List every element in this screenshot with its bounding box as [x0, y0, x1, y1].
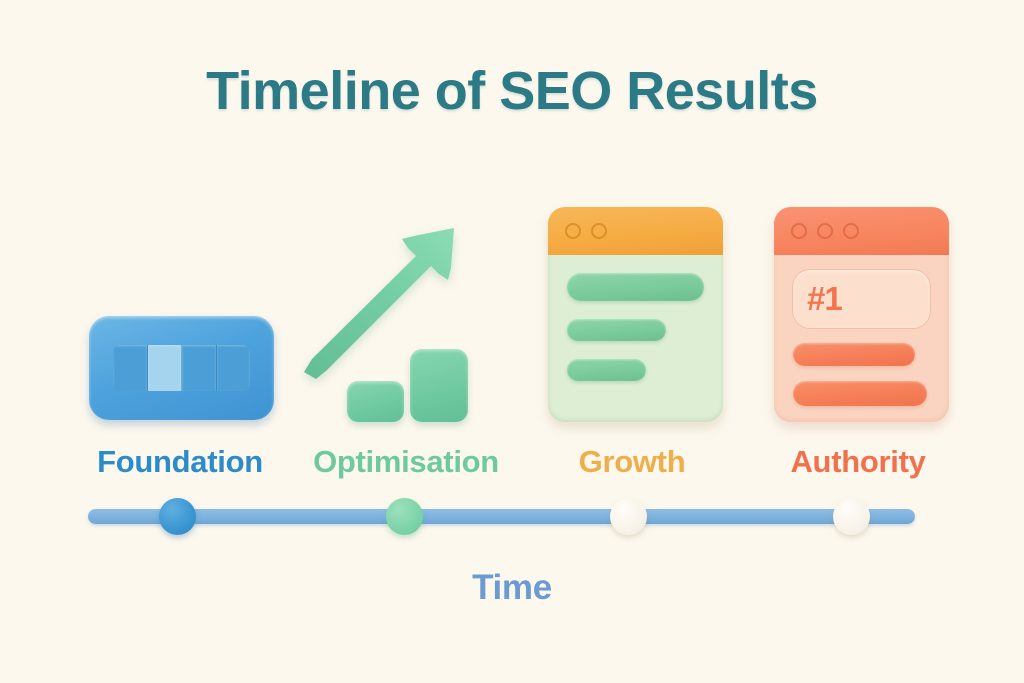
window-titlebar — [548, 207, 723, 255]
stage-label-authority: Authority — [746, 444, 970, 480]
stage-growth-icon-area — [520, 192, 744, 422]
chart-bar-small — [347, 381, 404, 422]
window-dot-icon — [591, 223, 607, 239]
window-dot-icon — [565, 223, 581, 239]
stage-label-optimisation: Optimisation — [294, 444, 518, 480]
window-body — [548, 255, 723, 422]
window-dot-icon — [817, 223, 833, 239]
timeline-axis — [0, 480, 1024, 560]
rank-badge: #1 — [792, 269, 931, 329]
content-line — [793, 381, 927, 406]
stage-authority[interactable]: #1 Authority — [746, 190, 970, 480]
timeline-track — [88, 509, 915, 524]
window-body: #1 — [774, 255, 949, 422]
stage-growth[interactable]: Growth — [520, 190, 744, 480]
timeline-marker-growth[interactable] — [610, 498, 647, 535]
stage-optimisation[interactable]: Optimisation — [294, 190, 518, 480]
rank-badge-text: #1 — [807, 280, 842, 318]
brick-segment — [217, 345, 251, 391]
browser-window-rank-icon: #1 — [774, 207, 949, 422]
stage-foundation-icon-area — [68, 192, 292, 422]
infographic-canvas: Timeline of SEO Results Foundation — [0, 0, 1024, 683]
stage-foundation[interactable]: Foundation — [68, 190, 292, 480]
foundation-bricks-icon — [89, 316, 274, 420]
window-dot-icon — [843, 223, 859, 239]
brick-panel — [113, 345, 250, 391]
axis-label-time: Time — [0, 568, 1024, 608]
stage-row: Foundation — [62, 190, 962, 480]
brick-segment — [113, 345, 148, 391]
content-line — [567, 319, 666, 341]
timeline-marker-optimisation[interactable] — [386, 498, 423, 535]
stage-optimisation-icon-area — [294, 192, 518, 422]
content-line — [567, 359, 646, 381]
page-title: Timeline of SEO Results — [0, 60, 1024, 122]
window-dot-icon — [791, 223, 807, 239]
window-titlebar — [774, 207, 949, 255]
stage-authority-icon-area: #1 — [746, 192, 970, 422]
content-line — [567, 273, 704, 301]
timeline-marker-authority[interactable] — [833, 498, 870, 535]
timeline-marker-foundation[interactable] — [159, 498, 196, 535]
growth-arrow-chart-icon — [294, 212, 518, 422]
stage-label-growth: Growth — [520, 444, 744, 480]
stage-label-foundation: Foundation — [68, 444, 292, 480]
brick-segment — [182, 345, 217, 391]
upward-arrow-icon — [294, 212, 518, 422]
content-line — [793, 343, 915, 366]
browser-window-content-icon — [548, 207, 723, 422]
brick-segment-highlighted — [148, 345, 183, 391]
chart-bar-large — [410, 349, 468, 422]
